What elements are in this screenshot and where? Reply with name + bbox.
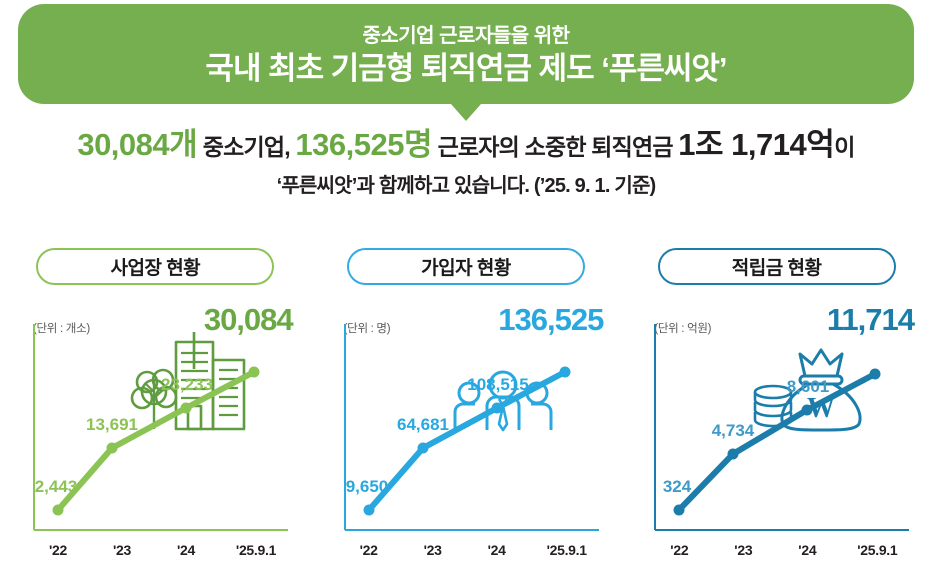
panel-reserves: 적립금 현황 (단위 : 억원) 11,714 W — [621, 240, 932, 576]
x-axis-labels-workplaces: '22 '23 '24 '25.9.1 — [16, 542, 298, 566]
x-tick-0: '22 — [670, 542, 688, 558]
panel-title-pill-members: 가입자 현황 — [347, 248, 585, 285]
panel-workplaces: 사업장 현황 (단위 : 개소) 30,084 — [0, 240, 311, 576]
x-tick-0: '22 — [49, 542, 67, 558]
x-tick-1: '23 — [734, 542, 752, 558]
x-axis-labels-members: '22 '23 '24 '25.9.1 — [327, 542, 609, 566]
companies-count: 30,084개 — [77, 127, 197, 162]
data-point — [559, 367, 570, 378]
data-point — [728, 449, 739, 460]
x-tick-3: '25.9.1 — [547, 542, 587, 558]
data-label: 324 — [663, 477, 692, 496]
data-point — [53, 505, 64, 516]
data-point — [249, 367, 260, 378]
x-tick-2: '24 — [488, 542, 506, 558]
data-point — [802, 405, 813, 416]
banner-subtitle: 중소기업 근로자들을 위한 — [362, 25, 569, 47]
data-label: 8,601 — [787, 377, 830, 396]
amount-count: 1조 1,714억 — [678, 127, 834, 162]
summary-text: 30,084개 중소기업, 136,525명 근로자의 소중한 퇴직연금 1조 … — [0, 126, 932, 198]
data-point — [363, 505, 374, 516]
data-point — [674, 505, 685, 516]
data-label: 9,650 — [345, 477, 388, 496]
line-chart-reserves: W 324 4,734 8,601 — [637, 320, 919, 540]
data-label: 108,515 — [467, 375, 528, 394]
data-point — [491, 403, 502, 414]
data-label: 23,233 — [161, 375, 213, 394]
line-chart-members: 9,650 64,681 108,515 — [327, 320, 609, 540]
line-chart-workplaces: 2,443 13,691 23,233 — [16, 320, 298, 540]
summary-line-1: 30,084개 중소기업, 136,525명 근로자의 소중한 퇴직연금 1조 … — [0, 126, 932, 163]
data-point — [181, 403, 192, 414]
banner-body: 중소기업 근로자들을 위한 국내 최초 기금형 퇴직연금 제도 ‘푸른씨앗’ — [18, 4, 914, 104]
members-label: 근로자의 소중한 퇴직연금 — [438, 134, 673, 160]
data-label: 13,691 — [86, 415, 138, 434]
companies-label: 중소기업, — [203, 134, 290, 160]
x-tick-2: '24 — [798, 542, 816, 558]
data-point — [870, 369, 881, 380]
chart-panels: 사업장 현황 (단위 : 개소) 30,084 — [0, 240, 932, 576]
panel-title-pill-workplaces: 사업장 현황 — [36, 248, 274, 285]
panel-title-label: 사업장 현황 — [110, 253, 200, 280]
banner-title: 국내 최초 기금형 퇴직연금 제도 ‘푸른씨앗’ — [205, 51, 726, 87]
x-tick-2: '24 — [177, 542, 195, 558]
x-axis-labels-reserves: '22 '23 '24 '25.9.1 — [637, 542, 919, 566]
panel-members: 가입자 현황 (단위 : 명) 136,525 — [311, 240, 622, 576]
amount-suffix: 이 — [834, 134, 854, 160]
banner-pointer-icon — [451, 104, 481, 121]
x-tick-1: '23 — [113, 542, 131, 558]
data-point — [417, 443, 428, 454]
panel-title-label: 가입자 현황 — [421, 253, 511, 280]
members-count: 136,525명 — [295, 127, 432, 162]
data-label: 64,681 — [397, 415, 449, 434]
panel-title-pill-reserves: 적립금 현황 — [658, 248, 896, 285]
x-tick-3: '25.9.1 — [857, 542, 897, 558]
panel-title-label: 적립금 현황 — [732, 253, 822, 280]
data-label: 2,443 — [35, 477, 78, 496]
x-tick-0: '22 — [360, 542, 378, 558]
data-label: 4,734 — [712, 421, 755, 440]
data-point — [107, 443, 118, 454]
x-tick-3: '25.9.1 — [236, 542, 276, 558]
x-tick-1: '23 — [424, 542, 442, 558]
header-banner: 중소기업 근로자들을 위한 국내 최초 기금형 퇴직연금 제도 ‘푸른씨앗’ — [18, 4, 914, 104]
summary-line-2: ‘푸른씨앗’과 함께하고 있습니다. (’25. 9. 1. 기준) — [0, 174, 932, 198]
